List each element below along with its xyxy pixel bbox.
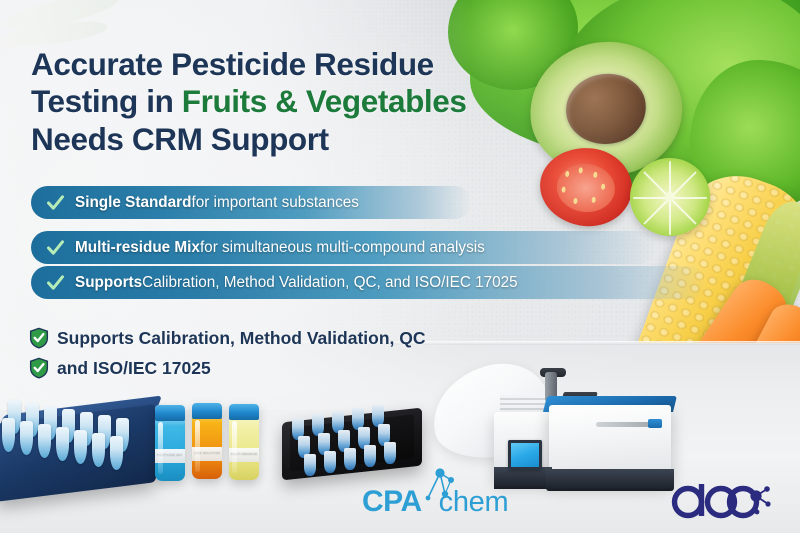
shield-bullet-text: and ISO/IEC 17025 (57, 358, 211, 379)
instrument-indicator (648, 419, 662, 428)
feature-pill-strong: Single Standard (75, 194, 191, 212)
instrument-base (546, 469, 674, 491)
feature-pill-text: Calibration, Method Validation, QC, and … (142, 274, 518, 292)
sample-vial: CRM SOLUTION (192, 403, 222, 479)
check-icon (45, 192, 66, 213)
feature-pill-strong: Supports (75, 274, 142, 292)
page-title: Accurate Pesticide Residue Testing in Fr… (31, 46, 551, 158)
feature-pill[interactable]: Multi-residue Mix for simultaneous multi… (31, 231, 656, 264)
cpachem-logo[interactable]: CPA chem (362, 487, 508, 517)
instrument-screen (508, 440, 542, 470)
feature-pill-text: for simultaneous multi-compound analysis (200, 239, 485, 257)
sample-vial: MULTI-RESIDUE STANDARD (229, 404, 259, 480)
headline-line-2-prefix: Testing in (31, 83, 182, 119)
avocado-pit (562, 69, 650, 149)
headline-highlight: Fruits & Vegetables (182, 83, 467, 119)
shield-check-icon (29, 357, 49, 379)
cpachem-logo-part2: chem (439, 488, 509, 517)
shield-bullet-text: Supports Calibration, Method Validation,… (57, 328, 425, 349)
sample-vial: PESTICIDE MIX STANDARD (155, 405, 185, 481)
lime-core (665, 192, 675, 201)
headline-line-3: Needs CRM Support (31, 121, 551, 158)
check-icon (45, 237, 66, 258)
feature-pill[interactable]: Single Standard for important substances (31, 186, 471, 219)
axa-logo[interactable] (668, 476, 776, 520)
cpachem-logo-part1: CPA (362, 487, 422, 517)
shield-bullet: Supports Calibration, Method Validation,… (29, 327, 425, 349)
lime-half (630, 158, 710, 236)
feature-pill[interactable]: Supports Calibration, Method Validation,… (31, 266, 706, 299)
feature-pill-text: for important substances (191, 194, 359, 212)
shield-check-icon (29, 327, 49, 349)
headline-line-2: Testing in Fruits & Vegetables (31, 83, 551, 120)
banner-canvas: PESTICIDE MIX STANDARD CRM SOLUTION MULT… (0, 0, 800, 533)
shield-bullet: and ISO/IEC 17025 (29, 357, 211, 379)
headline-line-1: Accurate Pesticide Residue (31, 46, 551, 83)
feature-pill-strong: Multi-residue Mix (75, 239, 200, 257)
check-icon (45, 272, 66, 293)
